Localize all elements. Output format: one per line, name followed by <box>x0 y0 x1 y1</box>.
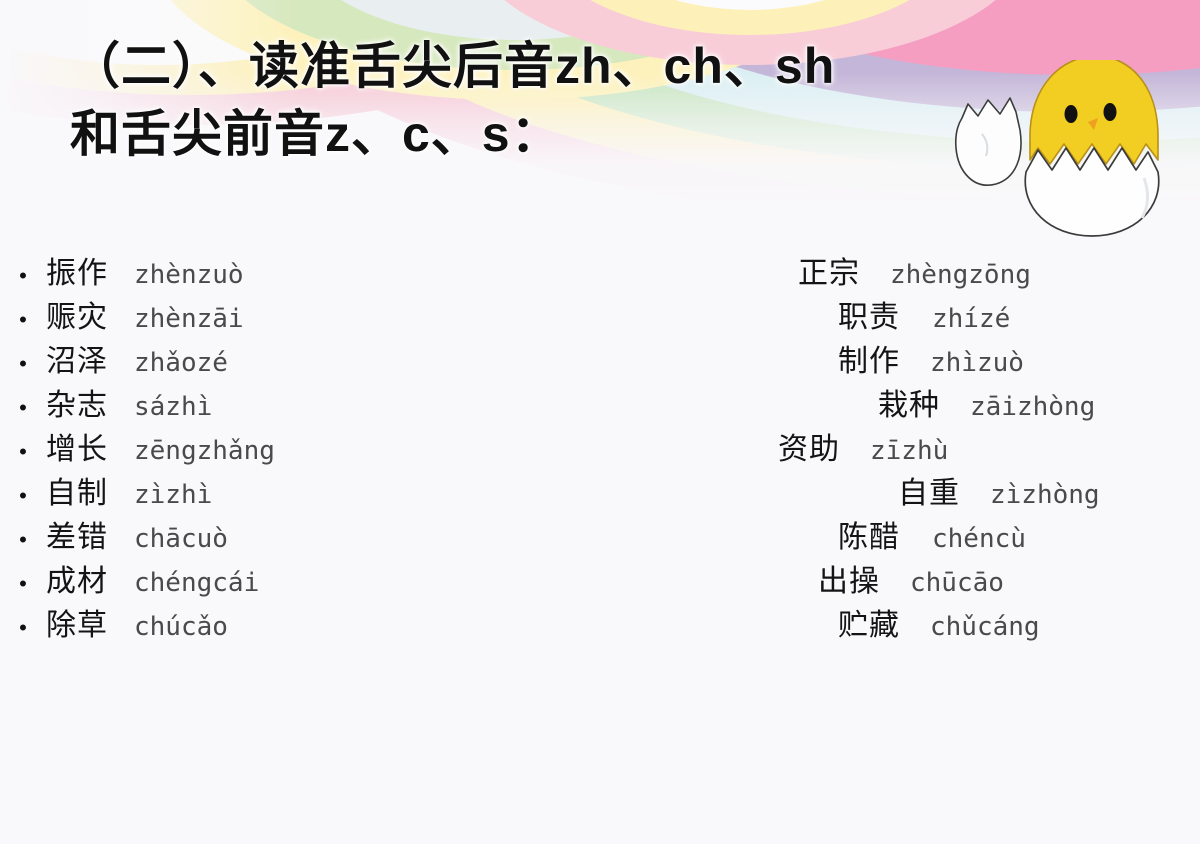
word-hanzi: 制作 <box>838 336 900 380</box>
sweep-white-mid <box>600 0 900 10</box>
word-hanzi: 正宗 <box>798 248 860 292</box>
list-item: •除草chúcǎo <box>0 600 520 644</box>
word-hanzi: 成材 <box>46 556 108 600</box>
page-title: （二）、读准舌尖后音zh、ch、sh和舌尖前音z、c、s： <box>70 32 1170 168</box>
word-pinyin: sázhì <box>134 392 212 422</box>
word-pinyin: zhènzuò <box>134 260 244 290</box>
left-word-list: •振作zhènzuò•赈灾zhènzāi•沼泽zhǎozé•杂志sázhì•增长… <box>0 248 520 644</box>
word-pinyin: chéngcái <box>134 568 259 598</box>
title-line-1: （二）、读准舌尖后音zh、ch、sh <box>70 38 835 94</box>
title-line-2: 和舌尖前音z、c、s： <box>70 106 562 162</box>
list-item: •成材chéngcái <box>0 556 520 600</box>
bullet-icon: • <box>0 430 46 474</box>
list-item: 贮藏chǔcáng <box>760 600 1200 644</box>
list-item: 栽种zāizhòng <box>760 380 1200 424</box>
word-pinyin: chúcǎo <box>134 612 228 642</box>
bullet-icon: • <box>0 342 46 386</box>
word-hanzi: 增长 <box>46 424 108 468</box>
bullet-icon: • <box>0 474 46 518</box>
word-hanzi: 出操 <box>818 556 880 600</box>
word-pinyin: zhìzuò <box>930 348 1024 378</box>
word-pinyin: zhènzāi <box>134 304 244 334</box>
word-pinyin: zìzhì <box>134 480 212 510</box>
list-item: 陈醋chéncù <box>760 512 1200 556</box>
word-pinyin: chācuò <box>134 524 228 554</box>
word-hanzi: 赈灾 <box>46 292 108 336</box>
word-hanzi: 振作 <box>46 248 108 292</box>
bullet-icon: • <box>0 254 46 298</box>
list-item: 正宗zhèngzōng <box>760 248 1200 292</box>
list-item: •沼泽zhǎozé <box>0 336 520 380</box>
list-item: 出操chūcāo <box>760 556 1200 600</box>
bullet-icon: • <box>0 298 46 342</box>
sweep-yellow-mid2 <box>540 0 960 35</box>
word-hanzi: 资助 <box>778 424 840 468</box>
right-word-list: 正宗zhèngzōng职责zhízé制作zhìzuò栽种zāizhòng资助zī… <box>760 248 1200 644</box>
word-hanzi: 杂志 <box>46 380 108 424</box>
list-item: •增长zēngzhǎng <box>0 424 520 468</box>
list-item: 自重zìzhòng <box>760 468 1200 512</box>
list-item: •差错chācuò <box>0 512 520 556</box>
list-item: •杂志sázhì <box>0 380 520 424</box>
word-hanzi: 陈醋 <box>838 512 900 556</box>
word-hanzi: 沼泽 <box>46 336 108 380</box>
list-item: •赈灾zhènzāi <box>0 292 520 336</box>
word-pinyin: chūcāo <box>910 568 1004 598</box>
bullet-icon: • <box>0 518 46 562</box>
word-hanzi: 差错 <box>46 512 108 556</box>
word-hanzi: 自制 <box>46 468 108 512</box>
slide-canvas: （二）、读准舌尖后音zh、ch、sh和舌尖前音z、c、s： •振作zhènzuò… <box>0 0 1200 844</box>
bullet-icon: • <box>0 606 46 650</box>
word-pinyin: zhǎozé <box>134 348 228 378</box>
word-pinyin: chéncù <box>932 524 1026 554</box>
word-pinyin: zīzhù <box>870 436 948 466</box>
word-pinyin: zìzhòng <box>990 480 1100 510</box>
word-hanzi: 贮藏 <box>838 600 900 644</box>
word-hanzi: 自重 <box>898 468 960 512</box>
list-item: 职责zhízé <box>760 292 1200 336</box>
word-pinyin: chǔcáng <box>930 612 1040 642</box>
word-hanzi: 除草 <box>46 600 108 644</box>
word-pinyin: zēngzhǎng <box>134 436 275 466</box>
word-hanzi: 栽种 <box>878 380 940 424</box>
bullet-icon: • <box>0 386 46 430</box>
list-item: •振作zhènzuò <box>0 248 520 292</box>
bullet-icon: • <box>0 562 46 606</box>
word-hanzi: 职责 <box>838 292 900 336</box>
word-pinyin: zāizhòng <box>970 392 1095 422</box>
list-item: 资助zīzhù <box>760 424 1200 468</box>
word-pinyin: zhèngzōng <box>890 260 1031 290</box>
word-pinyin: zhízé <box>932 304 1010 334</box>
list-item: 制作zhìzuò <box>760 336 1200 380</box>
list-item: •自制zìzhì <box>0 468 520 512</box>
